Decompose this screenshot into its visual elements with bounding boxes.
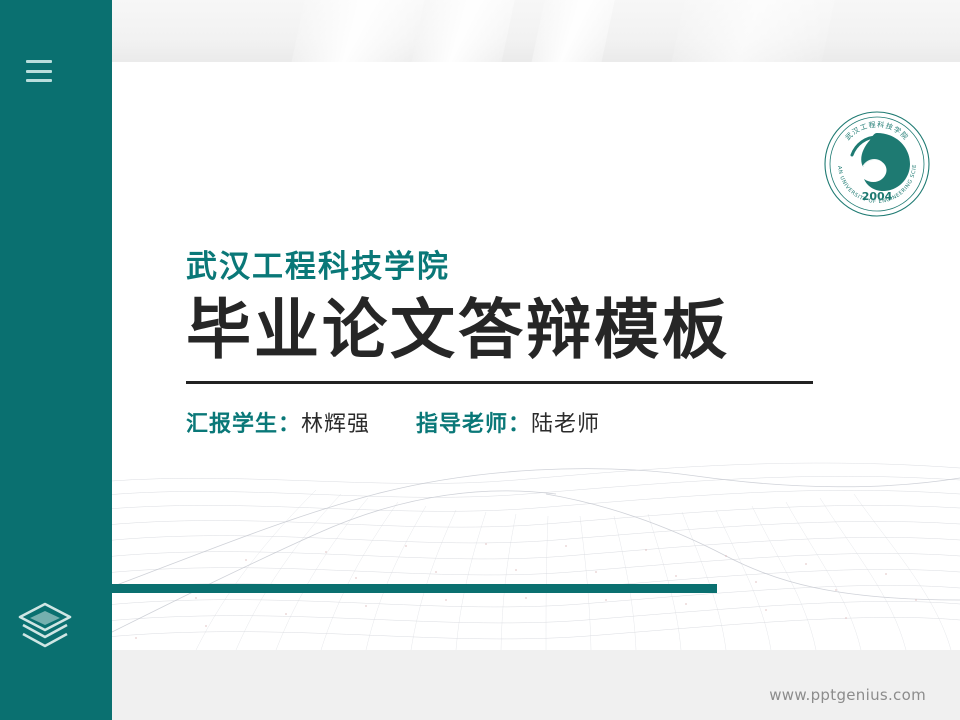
hamburger-bar — [26, 70, 52, 73]
university-emblem-logo: 2004 武汉工程科技学院 WUHAN UNIVERSITY OF ENGINE… — [822, 109, 932, 219]
advisor-label: 指导老师： — [416, 406, 531, 438]
hamburger-menu-icon[interactable] — [26, 60, 52, 82]
bottom-accent-bar — [76, 584, 717, 593]
title-text-block: 武汉工程科技学院 毕业论文答辩模板 汇报学生： 林辉强 指导老师： 陆老师 — [186, 250, 813, 438]
title-divider — [186, 381, 813, 384]
page-title: 毕业论文答辩模板 — [186, 294, 813, 369]
footer-url: www.pptgenius.com — [769, 686, 926, 704]
advisor-name: 陆老师 — [531, 406, 600, 438]
student-label: 汇报学生： — [186, 406, 301, 438]
school-name: 武汉工程科技学院 — [186, 250, 813, 284]
left-sidebar — [0, 0, 112, 720]
ribbon-shape — [651, 0, 844, 64]
ribbon-shape — [511, 0, 624, 64]
slide-content-card: 2004 武汉工程科技学院 WUHAN UNIVERSITY OF ENGINE… — [76, 62, 960, 650]
student-name: 林辉强 — [301, 406, 370, 438]
wireframe-mesh-graphic — [76, 450, 960, 650]
ribbon-shape — [271, 0, 434, 64]
background-texture-band — [112, 0, 960, 64]
presentation-slide: 2004 武汉工程科技学院 WUHAN UNIVERSITY OF ENGINE… — [0, 0, 960, 720]
hamburger-bar — [26, 60, 52, 63]
hamburger-bar — [26, 79, 52, 82]
layers-stack-icon[interactable] — [16, 600, 74, 654]
presenter-meta-row: 汇报学生： 林辉强 指导老师： 陆老师 — [186, 406, 813, 438]
